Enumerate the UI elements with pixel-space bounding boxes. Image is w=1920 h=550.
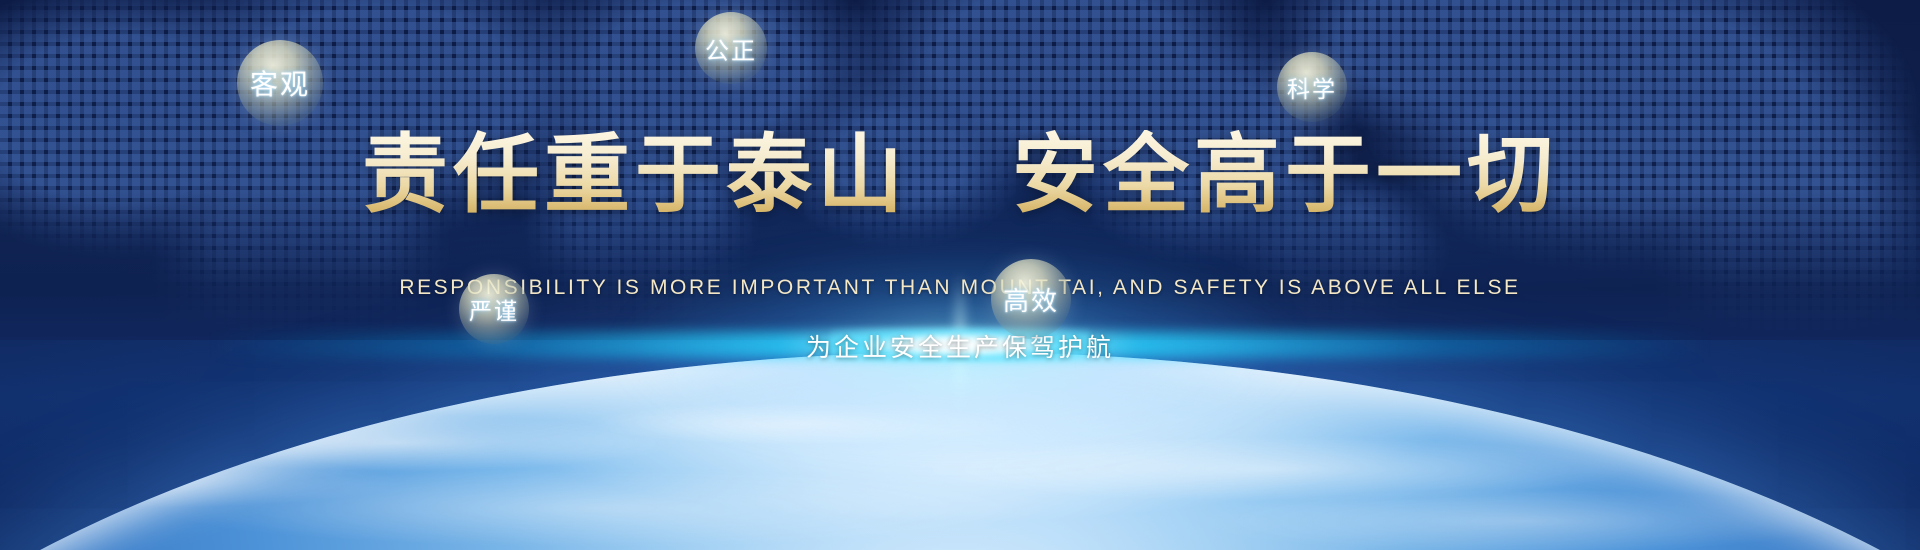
banner-headline: 责任重于泰山 安全高于一切: [0, 130, 1920, 220]
headline-phrase-1: 责任重于泰山: [362, 124, 908, 225]
value-badge-1: 客观: [237, 40, 323, 126]
value-badge-label: 高效: [1003, 281, 1059, 318]
safety-production-banner: 责任重于泰山 安全高于一切 RESPONSIBILITY IS MORE IMP…: [0, 0, 1920, 550]
banner-subtitle-english: RESPONSIBILITY IS MORE IMPORTANT THAN MO…: [0, 276, 1920, 300]
value-badge-2: 公正: [695, 12, 767, 84]
banner-tagline-chinese: 为企业安全生产保驾护航: [0, 328, 1920, 364]
headline-phrase-2: 安全高于一切: [1012, 124, 1558, 225]
value-badge-label: 客观: [250, 63, 310, 103]
value-badge-3: 科学: [1277, 52, 1347, 122]
value-badge-4: 严谨: [459, 274, 529, 344]
value-badge-label: 公正: [705, 31, 757, 66]
value-badge-5: 高效: [991, 259, 1071, 339]
value-badge-label: 科学: [1287, 70, 1337, 104]
value-badge-label: 严谨: [469, 292, 519, 326]
